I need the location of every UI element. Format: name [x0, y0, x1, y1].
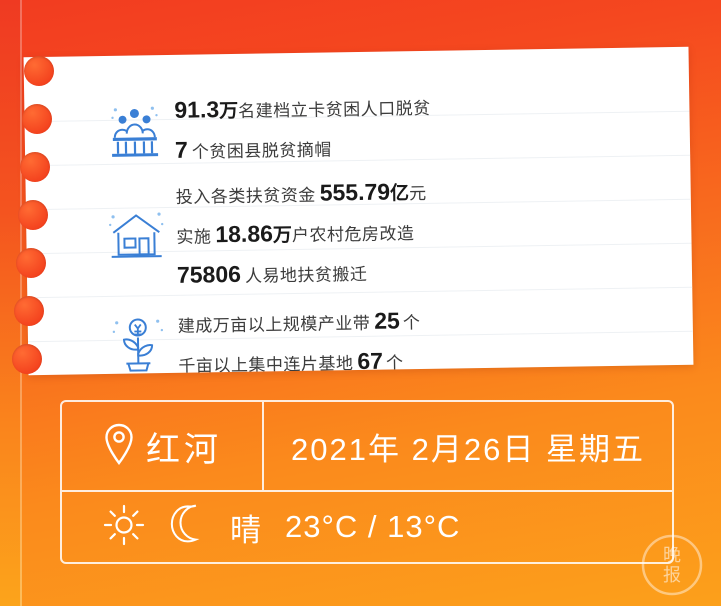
stat-line: 建成万亩以上规模产业带 25 个: [177, 300, 420, 344]
stats-rows: 91.3 万 名建档立卡贫困人口脱贫 7 个贫困县脱贫摘帽: [94, 81, 675, 364]
stat-label: 户农村危房改造: [292, 219, 415, 246]
stat-group-poverty-funds: 投入各类扶贫资金 555.79 亿 元 实施 18.86 万 户农村危房改造 7…: [95, 165, 674, 298]
stat-value: 75806: [177, 260, 241, 288]
punch-hole: [22, 104, 52, 134]
stat-label: 名建档立卡贫困人口脱贫: [238, 93, 431, 121]
stat-label: 个: [403, 308, 421, 333]
stat-value: 25: [374, 307, 400, 334]
stat-line: 91.3 万 名建档立卡贫困人口脱贫: [174, 86, 431, 130]
stats-card-inner: 91.3 万 名建档立卡贫困人口脱贫 7 个贫困县脱贫摘帽: [24, 47, 694, 375]
stat-group-poverty-population: 91.3 万 名建档立卡贫困人口脱贫 7 个贫困县脱贫摘帽: [94, 81, 672, 172]
stat-text-poverty-funds: 投入各类扶贫资金 555.79 亿 元 实施 18.86 万 户农村危房改造 7…: [175, 171, 428, 295]
punch-hole: [20, 152, 50, 182]
punch-hole: [18, 200, 48, 230]
stat-label: 元: [409, 178, 427, 203]
punch-holes: [8, 52, 54, 372]
punch-hole: [24, 56, 54, 86]
stat-text-poverty-population: 91.3 万 名建档立卡贫困人口脱贫 7 个贫困县脱贫摘帽: [174, 86, 432, 170]
stat-label: 实施: [176, 222, 211, 248]
stat-line: 千亩以上集中连片基地 67 个: [178, 340, 421, 375]
date-text: 2021年 2月26日 星期五: [264, 402, 672, 490]
stat-unit: 万: [273, 220, 292, 247]
stat-line: 投入各类扶贫资金 555.79 亿 元: [175, 171, 426, 215]
info-panel: 红河 2021年 2月26日 星期五 晴 23°C / 13°C: [60, 400, 674, 564]
weather-cell: 晴 23°C / 13°C: [62, 492, 672, 562]
stat-value: 555.79: [319, 178, 390, 206]
stat-label: 个: [386, 348, 404, 373]
svg-text:报: 报: [663, 565, 681, 585]
stats-card: 91.3 万 名建档立卡贫困人口脱贫 7 个贫困县脱贫摘帽: [24, 47, 694, 375]
moon-icon: [168, 503, 208, 552]
stat-label: 个贫困县脱贫摘帽: [192, 135, 332, 162]
svg-text:晚: 晚: [663, 545, 681, 565]
stat-group-industry-belt: 建成万亩以上规模产业带 25 个 千亩以上集中连片基地 67 个: [97, 295, 675, 375]
stat-label: 千亩以上集中连片基地: [178, 349, 353, 376]
weather-temperature: 23°C / 13°C: [285, 509, 460, 545]
punch-hole: [16, 248, 46, 278]
city-name: 红河: [146, 422, 222, 471]
stat-text-industry-belt: 建成万亩以上规模产业带 25 个 千亩以上集中连片基地 67 个: [177, 300, 421, 375]
weather-condition: 晴: [230, 505, 263, 550]
stat-line: 实施 18.86 万 户农村危房改造: [176, 211, 427, 255]
stat-unit: 亿: [390, 178, 409, 205]
city-cell: 红河: [62, 402, 262, 490]
watermark-logo: 晚 报: [641, 534, 703, 596]
stat-value: 91.3: [174, 96, 219, 124]
stat-value: 7: [175, 136, 188, 163]
house-icon: [96, 204, 177, 267]
stat-value: 67: [357, 347, 383, 374]
stat-line: 7 个贫困县脱贫摘帽: [175, 126, 432, 170]
stat-label: 投入各类扶贫资金: [176, 180, 316, 207]
stat-line: 75806 人易地扶贫搬迁: [177, 251, 428, 295]
map-pin-icon: [102, 422, 136, 471]
plant-money-icon: [98, 313, 179, 375]
punch-hole: [14, 296, 44, 326]
punch-hole: [12, 344, 42, 374]
stat-label: 建成万亩以上规模产业带: [178, 308, 371, 336]
stat-unit: 万: [219, 95, 238, 122]
stat-value: 18.86: [215, 220, 273, 248]
people-group-icon: [94, 101, 175, 160]
stat-label: 人易地扶贫搬迁: [245, 259, 368, 286]
sun-icon: [102, 503, 146, 552]
